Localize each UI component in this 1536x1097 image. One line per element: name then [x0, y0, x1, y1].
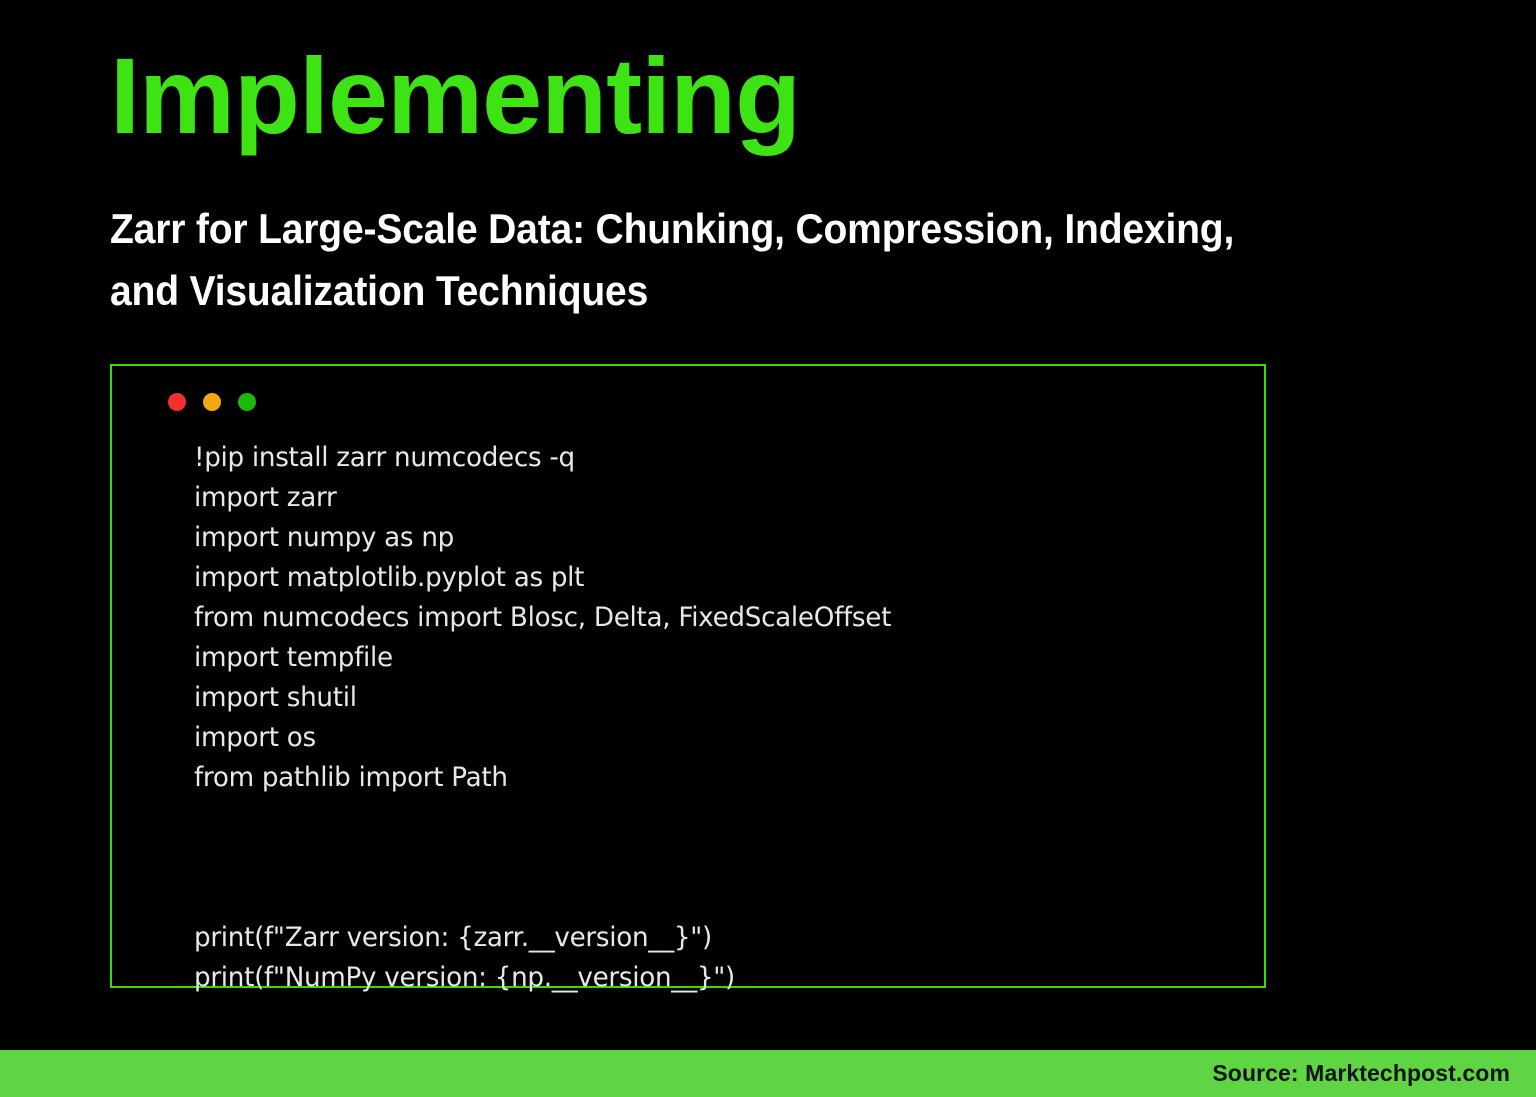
close-dot-icon[interactable] [168, 393, 186, 411]
source-attribution: Source: Marktechpost.com [1212, 1060, 1536, 1087]
code-line [194, 838, 1213, 878]
code-line: from numcodecs import Blosc, Delta, Fixe… [194, 598, 1213, 638]
subtitle-line-2: and Visualization Techniques [110, 260, 1319, 322]
footer-bar: Source: Marktechpost.com [0, 1050, 1536, 1097]
code-line: import numpy as np [194, 518, 1213, 558]
page-subtitle: Zarr for Large-Scale Data: Chunking, Com… [110, 198, 1319, 322]
slide-canvas: Implementing Zarr for Large-Scale Data: … [0, 0, 1536, 1097]
subtitle-line-1: Zarr for Large-Scale Data: Chunking, Com… [110, 198, 1319, 260]
page-title: Implementing [110, 42, 800, 150]
code-line: !pip install zarr numcodecs -q [194, 438, 1213, 478]
code-line: print(f"Zarr version: {zarr.__version__}… [194, 918, 1213, 958]
code-line: import shutil [194, 678, 1213, 718]
window-controls [168, 393, 256, 411]
maximize-dot-icon[interactable] [238, 393, 256, 411]
minimize-dot-icon[interactable] [203, 393, 221, 411]
code-line: from pathlib import Path [194, 758, 1213, 798]
code-line: import os [194, 718, 1213, 758]
code-line [194, 878, 1213, 918]
code-block[interactable]: !pip install zarr numcodecs -qimport zar… [194, 438, 1213, 998]
code-line [194, 798, 1213, 838]
code-line: import matplotlib.pyplot as plt [194, 558, 1213, 598]
code-line: import zarr [194, 478, 1213, 518]
code-line: print(f"NumPy version: {np.__version__}"… [194, 958, 1213, 998]
code-window: !pip install zarr numcodecs -qimport zar… [110, 364, 1266, 988]
code-line: import tempfile [194, 638, 1213, 678]
